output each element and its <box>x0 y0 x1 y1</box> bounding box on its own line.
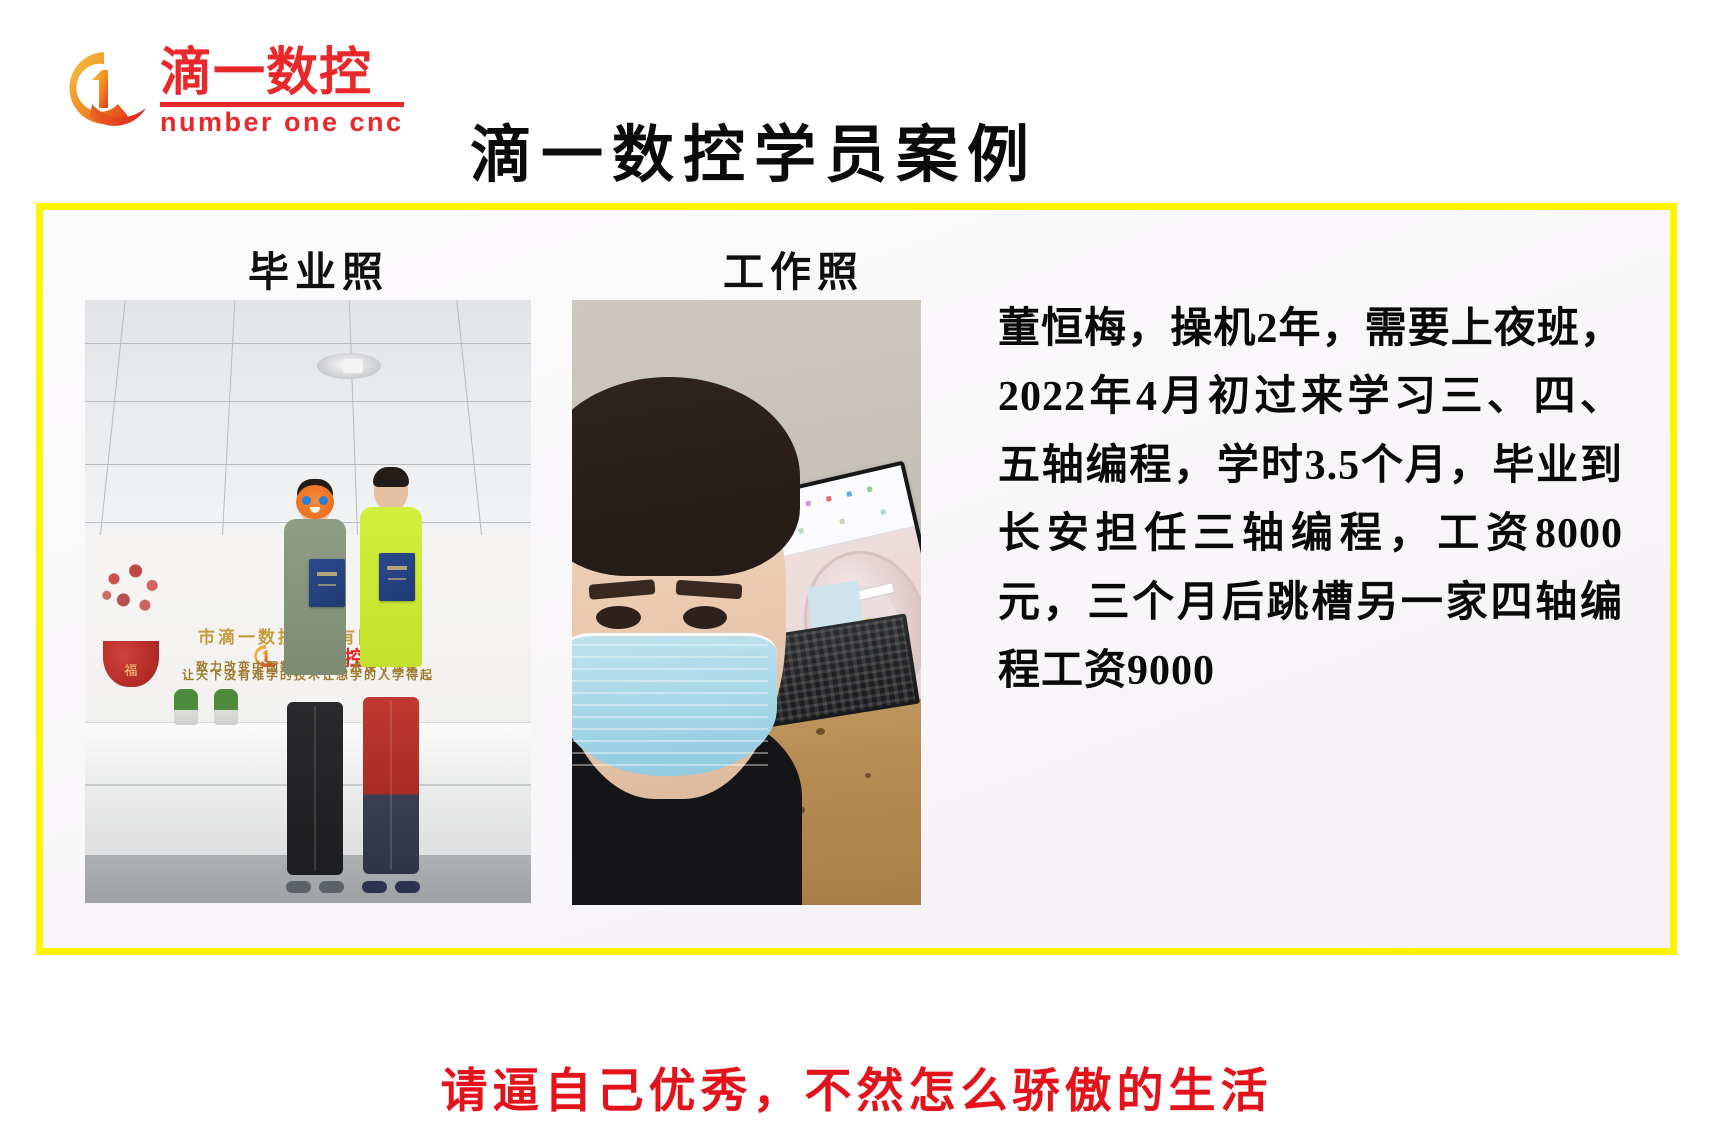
page-title: 滴一数控学员案例 <box>470 104 1038 194</box>
certificate <box>309 559 345 607</box>
person-eye <box>683 606 727 629</box>
work-photo-label: 工作照 <box>723 238 864 298</box>
surgical-mask <box>572 633 777 776</box>
person-trousers <box>287 702 343 874</box>
brand-name-en: number one cnc <box>160 109 404 136</box>
person-slides <box>362 880 420 893</box>
work-scene <box>572 300 921 905</box>
person-eye <box>596 606 640 629</box>
person-eyebrow <box>589 580 656 601</box>
graduation-photo-label: 毕业照 <box>248 238 389 298</box>
potted-plant <box>214 689 238 725</box>
content-frame: 毕业照 工作照 市滴一数控技术有限公司 <box>36 203 1677 955</box>
brand-name-cn: 滴一数控 <box>160 48 372 99</box>
graduate-person-right <box>353 469 429 891</box>
work-photo <box>572 300 921 905</box>
face-sticker-icon <box>296 485 334 519</box>
page-header: 滴一数控 number one cnc 滴一数控学员案例 <box>0 0 1713 203</box>
graduation-photo: 市滴一数控技术有限公司 滴一数控 致力改变中国数控行业技术保守现象 让天下没有难… <box>85 300 531 903</box>
decorative-branches <box>96 559 168 625</box>
certificate <box>379 553 415 601</box>
ceiling-light-icon <box>317 353 381 379</box>
brand-wordmark: 滴一数控 number one cnc <box>160 44 404 136</box>
number-one-swoosh-logo-icon <box>58 46 150 134</box>
brand-logo: 滴一数控 number one cnc <box>58 44 404 136</box>
person-hair <box>373 467 409 487</box>
student-testimonial-text: 董恒梅，操机2年，需要上夜班，2022年4月初过来学习三、四、五轴编程，学时3.… <box>998 295 1623 706</box>
person-eyebrow <box>675 580 741 600</box>
person-shoes <box>286 880 344 893</box>
graduation-scene: 市滴一数控技术有限公司 滴一数控 致力改变中国数控行业技术保守现象 让天下没有难… <box>85 300 531 903</box>
potted-plant <box>174 689 198 725</box>
person-shorts <box>363 697 419 874</box>
person-hair <box>572 377 800 577</box>
footer-slogan: 请逼自己优秀，不然怎么骄傲的生活 <box>0 1052 1713 1121</box>
student-selfie-person <box>572 318 802 905</box>
graduate-person-left <box>281 481 349 891</box>
